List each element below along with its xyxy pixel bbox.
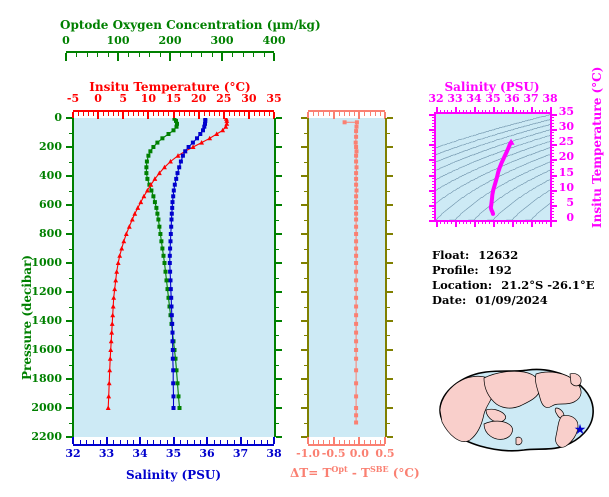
ts-profile-trace [491, 143, 511, 214]
ts-temperature-tick [551, 162, 554, 163]
profile-marker [176, 381, 180, 385]
ts-temperature-tick-label: 25 [559, 135, 574, 148]
salinity-axis-tick [267, 440, 268, 444]
salinity-axis-tick [160, 440, 161, 444]
ts-isopycnal-line [436, 119, 550, 155]
ts-temperature-tick [432, 126, 435, 127]
pressure-axis-tick [69, 220, 72, 221]
pressure-axis-tick [69, 307, 72, 308]
delta-tick-label: -0.5 [322, 447, 346, 460]
ts-salinity-tick [474, 107, 476, 113]
ts-salinity-tick [520, 221, 521, 224]
delta-left-axis-tick [301, 291, 307, 293]
ts-temperature-tick-label: 10 [559, 181, 574, 194]
profile-marker [130, 217, 135, 222]
temperature-tick-label: 0 [94, 92, 102, 105]
ts-salinity-tick [546, 221, 547, 224]
profile-marker [165, 278, 169, 282]
ts-salinity-tick [535, 110, 536, 113]
delta-top-axis-tick [375, 112, 376, 116]
profile-marker [178, 406, 182, 410]
delta-profile-marker [354, 141, 358, 145]
pressure-axis-tick [66, 204, 72, 206]
main-right-axis-tick [276, 307, 279, 308]
profile-marker [177, 394, 181, 398]
ts-salinity-tick [516, 110, 517, 113]
profile-marker [174, 177, 178, 181]
salinity-axis-tick [72, 437, 74, 444]
salinity-axis-title: Salinity (PSU) [73, 464, 274, 483]
delta-profile-marker [355, 165, 359, 169]
delta-left-axis-tick [304, 307, 307, 308]
delta-t-bottom-axis [308, 437, 385, 446]
ts-temperature-tick [551, 172, 554, 173]
delta-profile-marker [354, 183, 358, 187]
main-panel-right-axis [274, 118, 282, 437]
profile-marker [183, 149, 187, 153]
ts-salinity-tick [523, 110, 524, 113]
delta-profile-marker [354, 406, 358, 410]
oxygen-tick-label: 0 [62, 34, 70, 47]
main-right-axis-tick [276, 407, 282, 409]
delta-bottom-axis-tick [364, 440, 365, 444]
main-right-axis-tick [276, 233, 282, 235]
salinity-axis-tick [187, 440, 188, 444]
profile-marker [111, 295, 116, 300]
temperature-axis-tick [264, 112, 265, 116]
profile-marker [169, 278, 173, 282]
ts-salinity-tick [508, 221, 509, 224]
ts-temperature-tick [432, 135, 435, 136]
delta-t-title-minus: - T [348, 466, 370, 480]
ts-temperature-tick [429, 220, 435, 222]
ts-salinity-tick [444, 221, 445, 224]
profile-marker [171, 348, 175, 352]
ts-salinity-tick [466, 110, 467, 113]
salinity-tick-label: 32 [65, 447, 80, 460]
delta-profile-marker [354, 368, 358, 372]
ts-salinity-tick [531, 107, 533, 113]
oxygen-axis-tick [169, 53, 171, 61]
delta-left-axis-tick [304, 335, 307, 336]
profile-marker [157, 225, 161, 229]
ts-temperature-tick [432, 141, 435, 142]
profile-marker [170, 218, 174, 222]
ts-salinity-tick [508, 110, 509, 113]
pressure-axis-tick [66, 175, 72, 177]
delta-top-axis-tick [339, 112, 340, 116]
delta-profile-marker [354, 135, 358, 139]
pressure-axis-tick [66, 349, 72, 351]
delta-right-axis-tick [387, 307, 390, 308]
profile-marker [173, 183, 177, 187]
delta-profile-marker [354, 171, 358, 175]
pressure-axis-tick [69, 394, 72, 395]
temperature-axis-tick [234, 112, 235, 116]
delta-profile-marker [354, 261, 358, 265]
ts-temperature-tick-label: 5 [566, 196, 574, 209]
profile-marker [177, 165, 181, 169]
pressure-axis-tick [66, 320, 72, 322]
ts-temperature-tick [432, 169, 435, 170]
pressure-axis-tick [66, 117, 72, 119]
pressure-tick-label: 0 [54, 111, 62, 124]
temperature-axis-tick [93, 112, 94, 116]
main-right-axis-tick [276, 249, 279, 250]
delta-left-axis-tick [301, 175, 307, 177]
delta-right-axis-tick [387, 262, 393, 264]
ts-temperature-tick [551, 217, 554, 218]
ts-temperature-tick [432, 193, 435, 194]
salinity-tick-label: 34 [132, 447, 147, 460]
profile-marker [107, 368, 112, 373]
delta-profile-marker [354, 160, 358, 164]
delta-profile-marker [354, 218, 358, 222]
profile-marker [170, 305, 174, 309]
ts-salinity-tick [485, 110, 486, 113]
profile-marker [160, 136, 164, 140]
ts-temperature-tick [551, 138, 554, 139]
delta-bottom-axis-tick [349, 440, 350, 444]
ts-salinity-tick [451, 110, 452, 113]
pressure-axis-tick [69, 365, 72, 366]
ts-salinity-tick [474, 221, 476, 227]
ts-salinity-tick [463, 221, 464, 224]
ts-temperature-tick [432, 162, 435, 163]
profile-marker [162, 254, 166, 258]
metadata-location-row: Location: 21.2°S -26.1°E [432, 278, 595, 293]
delta-right-axis-tick [387, 204, 393, 206]
delta-right-axis-tick [387, 162, 390, 163]
profile-marker [170, 206, 174, 210]
salinity-axis-ticklabels: 32333435363738 [55, 447, 292, 461]
profile-marker [144, 165, 148, 169]
profile-marker [169, 239, 173, 243]
delta-profile-marker [354, 200, 358, 204]
profile-marker [169, 296, 173, 300]
profile-marker [151, 194, 155, 198]
profile-marker [168, 261, 172, 265]
ts-temperature-tick [551, 181, 554, 182]
salinity-axis-tick [100, 440, 101, 444]
delta-top-axis-tick [344, 112, 345, 116]
profile-marker [164, 270, 168, 274]
ts-temperature-tick [551, 141, 554, 142]
ts-salinity-tick [451, 221, 452, 224]
ts-temperature-tick [551, 178, 554, 179]
ts-salinity-tick [440, 221, 441, 224]
ts-salinity-tick [444, 110, 445, 113]
oxygen-axis-tick [97, 53, 98, 57]
ts-temperature-tick [551, 193, 554, 194]
salinity-axis-tick [127, 440, 128, 444]
profile-marker [175, 125, 179, 129]
pressure-tick-label: 1200 [31, 285, 62, 298]
salinity-axis-tick [194, 440, 195, 444]
profile-marker [109, 330, 114, 335]
ts-salinity-tick-label: 35 [485, 92, 500, 105]
delta-tick-label: -1.0 [296, 447, 320, 460]
profile-line [108, 119, 227, 408]
ts-salinity-tick [470, 221, 471, 224]
delta-profile-marker [354, 296, 358, 300]
ts-isopycnal-line [436, 115, 550, 148]
profile-marker [111, 304, 116, 309]
profile-marker [154, 206, 158, 210]
profile-marker [168, 247, 172, 251]
profile-marker [146, 154, 150, 158]
ts-salinity-tick [516, 221, 517, 224]
delta-top-axis-tick [364, 112, 365, 116]
delta-t-title-delta: ΔT= T [290, 466, 331, 480]
salinity-tick-label: 37 [233, 447, 248, 460]
ts-temperature-tick [551, 196, 554, 197]
delta-right-axis-tick [387, 394, 390, 395]
delta-profile-marker [343, 120, 347, 124]
ts-temperature-tick [551, 117, 554, 118]
profile-marker [124, 231, 129, 236]
ts-isopycnal-line [468, 170, 550, 220]
delta-profile-marker [354, 270, 358, 274]
delta-profile-marker [354, 331, 358, 335]
delta-left-axis-tick [301, 204, 307, 206]
main-right-axis-tick [276, 262, 282, 264]
ts-temperature-tick [429, 114, 435, 116]
pressure-tick-label: 1800 [31, 372, 62, 385]
delta-profile-marker [354, 239, 358, 243]
salinity-axis-tick [227, 440, 228, 444]
metadata-date-value: 01/09/2024 [475, 293, 547, 307]
ts-temperature-tick [432, 211, 435, 212]
salinity-axis-tick [167, 440, 168, 444]
ts-temperature-tick [432, 217, 435, 218]
delta-top-axis-line [308, 110, 385, 112]
ts-salinity-tick [539, 221, 540, 224]
ts-temperature-tick [551, 120, 554, 121]
delta-bottom-axis-tick [354, 440, 355, 444]
ts-temperature-tick [429, 159, 435, 161]
delta-bottom-axis-tick [307, 437, 309, 444]
delta-left-axis-tick [301, 378, 307, 380]
profile-marker [127, 224, 132, 229]
delta-top-axis-tick [329, 112, 330, 116]
ts-temperature-tick-label: 0 [566, 211, 574, 224]
oxygen-axis-tick [139, 53, 140, 57]
delta-bottom-axis-tick [358, 437, 360, 444]
delta-bottom-axis-tick [384, 437, 386, 444]
main-right-axis-tick [276, 436, 282, 438]
pressure-axis-tick [66, 262, 72, 264]
temperature-axis-tick [83, 112, 84, 116]
delta-top-axis-tick [323, 112, 324, 116]
delta-right-axis-tick [387, 146, 393, 148]
pressure-tick-label: 2000 [31, 401, 62, 414]
ts-temperature-tick [551, 156, 554, 157]
delta-t-ticklabels: -1.0-0.50.00.5 [288, 447, 406, 461]
delta-right-axis-tick [387, 335, 390, 336]
oxygen-axis-tick [87, 53, 88, 57]
profile-marker [106, 405, 111, 410]
delta-profile-marker [354, 421, 358, 425]
temperature-tick-label: 35 [266, 92, 281, 105]
delta-profile-marker [354, 254, 358, 258]
ts-temperature-tick [432, 132, 435, 133]
delta-profile-marker [354, 145, 358, 149]
oxygen-axis-tick [65, 53, 67, 61]
delta-bottom-axis-tick [370, 440, 371, 444]
ts-temperature-tick [429, 205, 435, 207]
delta-profile-marker [354, 232, 358, 236]
profile-marker [155, 212, 159, 216]
map-float-location-star-icon: ★ [574, 422, 587, 438]
ts-salinity-tick [459, 221, 460, 224]
profile-marker [155, 141, 159, 145]
profile-marker [171, 381, 175, 385]
ts-salinity-tick [436, 221, 438, 227]
temperature-axis-tick [209, 112, 210, 116]
delta-left-axis-tick [304, 162, 307, 163]
profile-marker [214, 131, 219, 136]
ts-salinity-tick-label: 32 [428, 92, 443, 105]
temperature-axis-tick [138, 112, 139, 116]
profile-marker [202, 125, 206, 129]
oxygen-axis-ticklabels: 0100200300400 [60, 34, 280, 48]
salinity-axis-tick [247, 440, 248, 444]
oxygen-axis-tick [273, 53, 275, 61]
ts-salinity-tick [531, 221, 533, 227]
temperature-axis-tick [168, 112, 169, 116]
delta-right-axis-tick [387, 423, 390, 424]
salinity-axis-tick [206, 437, 208, 444]
ts-temperature-tick [551, 214, 554, 215]
ts-isopycnal-line [506, 191, 550, 221]
temperature-axis-tick [219, 112, 220, 116]
ts-salinity-tick [459, 110, 460, 113]
delta-left-axis-tick [304, 365, 307, 366]
delta-profile-marker [355, 149, 359, 153]
profile-marker [148, 149, 152, 153]
profile-marker [109, 339, 114, 344]
delta-profile-marker [354, 287, 358, 291]
profile-marker [108, 347, 113, 352]
metadata-location-label: Location: [432, 278, 492, 292]
oxygen-tick-label: 200 [159, 34, 182, 47]
temperature-axis-tick [153, 112, 154, 116]
delta-profile-marker [354, 225, 358, 229]
pressure-tick-label: 800 [39, 227, 62, 240]
delta-profile-marker [354, 313, 358, 317]
profile-marker [145, 177, 149, 181]
ts-temperature-tick [432, 208, 435, 209]
delta-profile-marker [354, 305, 358, 309]
pressure-axis-tick [69, 133, 72, 134]
main-right-axis-tick [276, 191, 279, 192]
profile-marker [170, 322, 174, 326]
delta-right-axis-tick [387, 133, 390, 134]
delta-right-axis-tick [387, 191, 390, 192]
salinity-axis-tick [80, 440, 81, 444]
temperature-axis-tick [143, 112, 144, 116]
ts-salinity-tick [520, 110, 521, 113]
delta-right-axis-tick [387, 220, 390, 221]
delta-right-axis-tick [387, 349, 393, 351]
ts-salinity-tick [523, 221, 524, 224]
delta-bottom-axis-tick [380, 440, 381, 444]
temperature-axis-tick [118, 112, 119, 116]
temperature-axis-tick [163, 112, 164, 116]
main-right-axis-tick [276, 278, 279, 279]
oxygen-tick-label: 100 [107, 34, 130, 47]
profile-marker [106, 394, 111, 399]
pressure-tick-label: 1000 [31, 256, 62, 269]
ts-temperature-tick [429, 129, 435, 131]
salinity-axis-tick [200, 440, 201, 444]
ts-temperature-tick [551, 169, 554, 170]
delta-left-axis-tick [304, 278, 307, 279]
ts-temperature-ticklabels: 35302520151050 [556, 106, 578, 228]
ts-salinity-tick [542, 110, 543, 113]
delta-profile-marker [354, 322, 358, 326]
salinity-axis-tick [120, 440, 121, 444]
delta-left-axis-tick [304, 220, 307, 221]
delta-top-axis-tick [354, 112, 355, 116]
main-right-axis-tick [276, 117, 282, 119]
profile-marker [171, 331, 175, 335]
delta-profile-marker [355, 125, 359, 129]
salinity-axis-tick [261, 440, 262, 444]
ts-salinity-tick-label: 33 [447, 92, 462, 105]
profile-marker [172, 189, 176, 193]
delta-top-axis-tick [349, 112, 350, 116]
main-right-axis-tick [276, 291, 282, 293]
temperature-axis-tick [113, 112, 114, 116]
profile-marker [160, 247, 164, 251]
delta-t-axis-title: ΔT= TOpt - TSBE (°C) [290, 464, 405, 480]
delta-left-axis-tick [304, 249, 307, 250]
oxygen-axis-tick [253, 53, 254, 57]
profile-marker [170, 212, 174, 216]
main-right-axis-tick [276, 162, 279, 163]
profile-marker [119, 246, 124, 251]
ts-temperature-tick [432, 187, 435, 188]
salinity-axis-tick [273, 437, 275, 444]
ts-temperature-tick [551, 199, 554, 200]
temperature-tick-label: 10 [141, 92, 156, 105]
salinity-axis-tick [254, 440, 255, 444]
profile-marker [169, 287, 173, 291]
ts-salinity-tick-label: 36 [504, 92, 519, 105]
delta-bottom-axis-tick [323, 440, 324, 444]
delta-right-axis-tick [387, 175, 393, 177]
salinity-axis-tick [86, 440, 87, 444]
profile-marker [171, 339, 175, 343]
delta-tick-label: 0.5 [375, 447, 394, 460]
main-right-axis-tick [276, 320, 282, 322]
temperature-axis-tick [103, 112, 104, 116]
ts-temperature-tick [551, 153, 554, 154]
temperature-axis-tick [244, 112, 245, 116]
metadata-location-value: 21.2°S -26.1°E [501, 278, 594, 292]
profile-marker [170, 313, 174, 317]
ts-temperature-tick [432, 181, 435, 182]
profile-marker [110, 313, 115, 318]
profile-marker [207, 136, 212, 141]
profile-marker [149, 189, 153, 193]
ts-temperature-tick [432, 165, 435, 166]
delta-left-axis-tick [301, 262, 307, 264]
profile-marker [132, 211, 137, 216]
pressure-axis-tick [69, 191, 72, 192]
